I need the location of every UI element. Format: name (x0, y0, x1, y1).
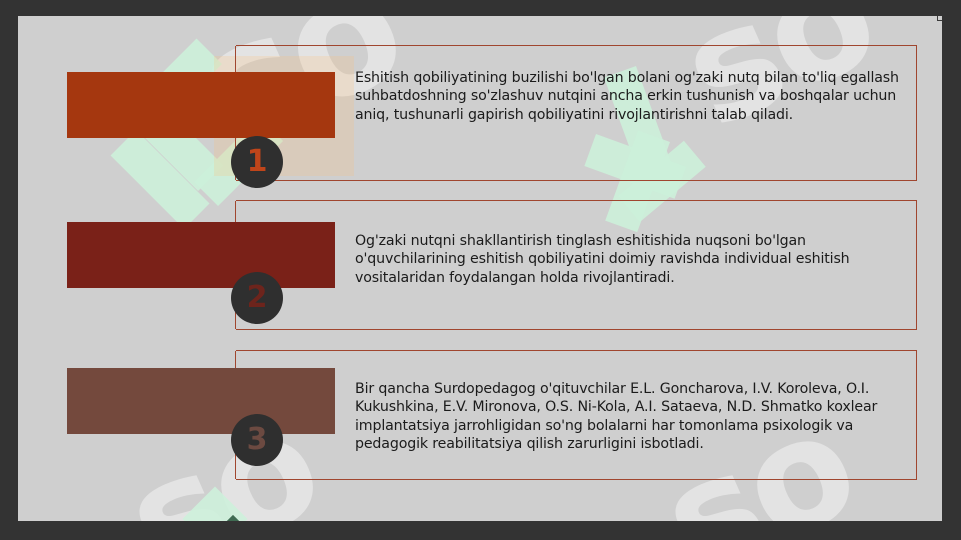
row-2-body-text: Og'zaki nutqni shakllantirish tinglash e… (355, 232, 905, 287)
row-1-color-bar[interactable] (67, 72, 335, 138)
row-3-color-bar[interactable] (67, 368, 335, 434)
slide-editor-root: so so so so 1 Eshitish qobi (0, 0, 961, 540)
row-1-body-text: Eshitish qobiliyatining buzilishi bo'lga… (355, 69, 905, 124)
slide-canvas[interactable]: so so so so 1 Eshitish qobi (18, 16, 942, 521)
row-2-number-badge[interactable]: 2 (231, 272, 283, 324)
row-3-number-label: 3 (247, 425, 268, 455)
row-1-number-badge[interactable]: 1 (231, 136, 283, 188)
row-2-color-bar[interactable] (67, 222, 335, 288)
row-2-number-label: 2 (247, 283, 268, 313)
slide-selection-handle[interactable] (937, 16, 942, 21)
row-3-number-badge[interactable]: 3 (231, 414, 283, 466)
diamond-icon-light (182, 486, 247, 521)
row-1-number-label: 1 (247, 147, 268, 177)
row-3-body-text: Bir qancha Surdopedagog o'qituvchilar E.… (355, 380, 905, 454)
diamond-icon-dark (195, 515, 271, 521)
